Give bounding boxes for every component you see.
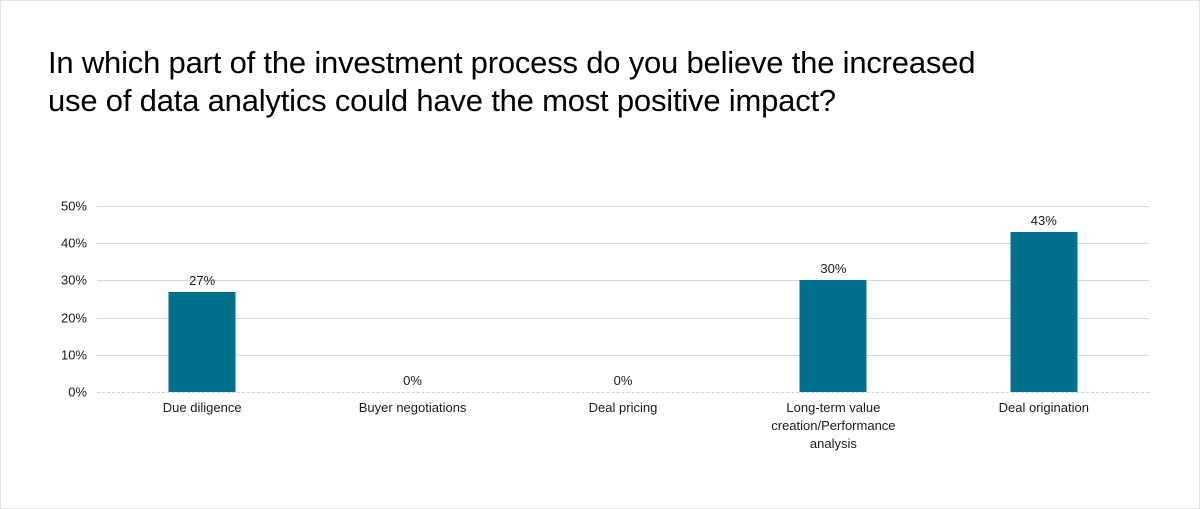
x-axis-label-buyer-negotiations: Buyer negotiations bbox=[328, 399, 498, 417]
y-axis-tick-30: 30% bbox=[27, 273, 87, 288]
bar-label-buyer-negotiations: 0% bbox=[403, 373, 422, 388]
y-axis-tick-10: 10% bbox=[27, 347, 87, 362]
x-axis-label-long-term-value-creation: Long-term value creation/Performance ana… bbox=[748, 399, 918, 453]
bar-label-deal-origination: 43% bbox=[1031, 213, 1057, 228]
bar-label-deal-pricing: 0% bbox=[614, 373, 633, 388]
bar-group-deal-origination: 43% bbox=[939, 206, 1149, 392]
chart-card: In which part of the investment process … bbox=[0, 0, 1200, 509]
bar-label-due-diligence: 27% bbox=[189, 273, 215, 288]
bar-group-due-diligence: 27% bbox=[97, 206, 307, 392]
bar-group-deal-pricing: 0% bbox=[518, 206, 728, 392]
x-axis-labels: Due diligence Buyer negotiations Deal pr… bbox=[97, 399, 1149, 469]
y-axis-tick-50: 50% bbox=[27, 199, 87, 214]
y-axis-tick-20: 20% bbox=[27, 310, 87, 325]
bars-layer: 27% 0% 0% 30% 43% bbox=[97, 206, 1149, 392]
bar-due-diligence[interactable] bbox=[169, 292, 236, 392]
bar-long-term-value-creation[interactable] bbox=[800, 280, 867, 392]
chart-title: In which part of the investment process … bbox=[48, 44, 1008, 120]
x-axis-label-deal-pricing: Deal pricing bbox=[538, 399, 708, 417]
x-axis-label-deal-origination: Deal origination bbox=[959, 399, 1129, 417]
bar-group-long-term-value-creation: 30% bbox=[728, 206, 938, 392]
y-axis-tick-0: 0% bbox=[27, 385, 87, 400]
y-axis-tick-40: 40% bbox=[27, 236, 87, 251]
x-axis-label-due-diligence: Due diligence bbox=[117, 399, 287, 417]
bar-deal-origination[interactable] bbox=[1010, 232, 1077, 392]
bar-group-buyer-negotiations: 0% bbox=[307, 206, 517, 392]
bar-label-long-term-value-creation: 30% bbox=[820, 261, 846, 276]
axis-baseline-0 bbox=[97, 392, 1149, 393]
